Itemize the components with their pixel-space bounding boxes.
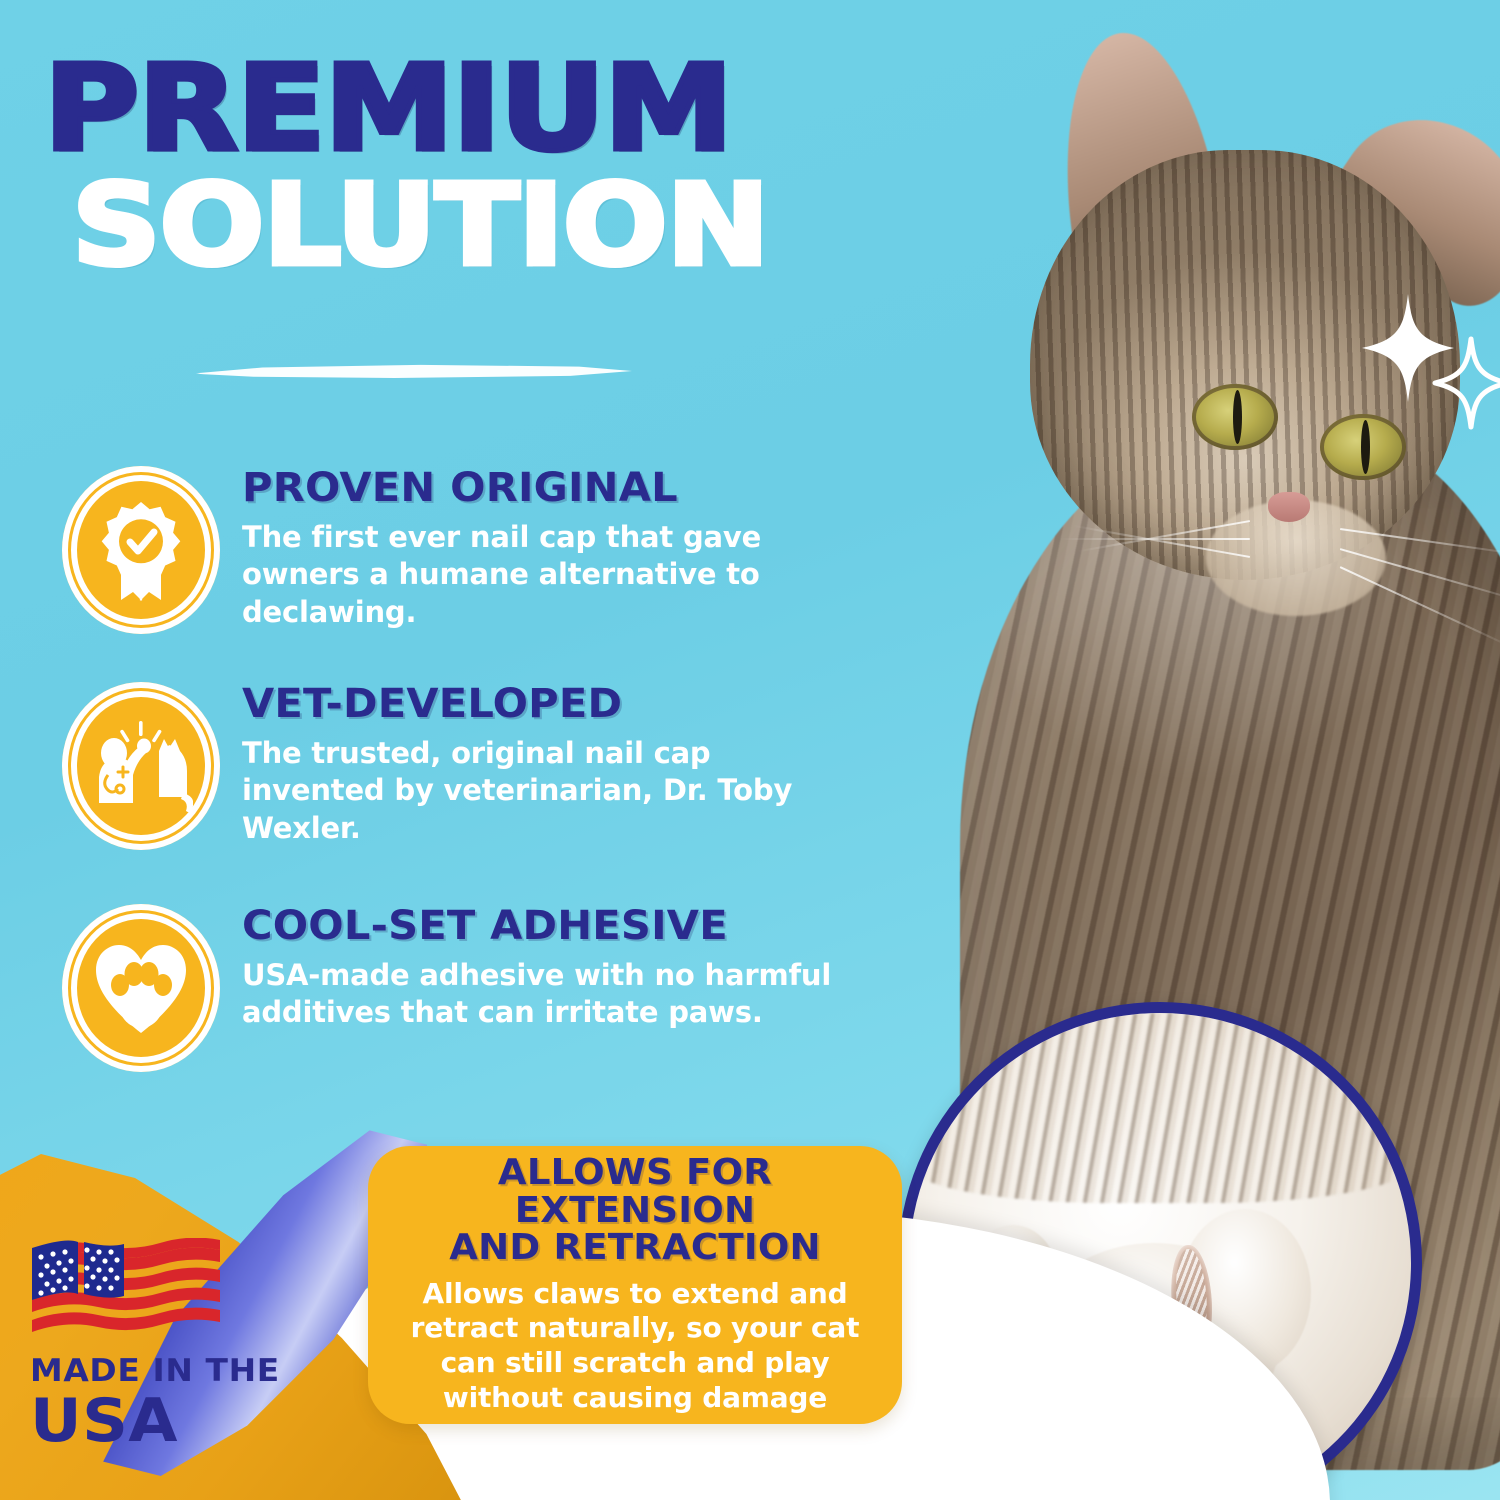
title-line-premium: PREMIUM: [44, 52, 935, 164]
award-ribbon-check-icon: [62, 466, 220, 634]
vet-and-cat-glyph: [89, 719, 193, 813]
callout-body: Allows claws to extend and retract natur…: [394, 1277, 876, 1416]
veterinarian-high-five-cat-icon: [62, 682, 220, 850]
callout-heading-line2: AND RETRACTION: [449, 1227, 821, 1268]
made-in-usa-line2: USA: [30, 1391, 337, 1452]
feature-heading: VET-DEVELOPED: [242, 684, 876, 726]
usa-flag-icon: [30, 1238, 222, 1342]
cat-eye-right: [1320, 414, 1406, 480]
heart-paw-print-icon: [62, 904, 220, 1072]
extension-retraction-callout: ALLOWS FOR EXTENSION AND RETRACTION Allo…: [368, 1146, 902, 1424]
feature-text: PROVEN ORIGINAL The first ever nail cap …: [242, 466, 852, 632]
callout-heading-line1: ALLOWS FOR EXTENSION: [498, 1152, 772, 1230]
made-in-usa-line1: MADE IN THE: [30, 1356, 337, 1387]
feature-item-cool-set-adhesive: COOL-SET ADHESIVE USA-made adhesive with…: [62, 904, 852, 1072]
feature-item-proven-original: PROVEN ORIGINAL The first ever nail cap …: [62, 466, 852, 634]
infographic-canvas: PREMIUM SOLUTION PROVEN ORIGINAL: [0, 0, 1500, 1500]
feature-text: COOL-SET ADHESIVE USA-made adhesive with…: [242, 904, 852, 1032]
award-ribbon-check-glyph: [95, 498, 187, 602]
feature-text: VET-DEVELOPED The trusted, original nail…: [242, 682, 852, 848]
feature-item-vet-developed: VET-DEVELOPED The trusted, original nail…: [62, 682, 852, 850]
cat-eye-left: [1192, 384, 1278, 450]
feature-heading: COOL-SET ADHESIVE: [242, 906, 876, 948]
feature-list: PROVEN ORIGINAL The first ever nail cap …: [62, 466, 852, 1072]
title-line-solution: SOLUTION: [72, 170, 932, 282]
feature-heading: PROVEN ORIGINAL: [242, 468, 876, 510]
callout-heading: ALLOWS FOR EXTENSION AND RETRACTION: [387, 1154, 883, 1266]
cat-nose: [1268, 492, 1310, 522]
feature-body: The trusted, original nail cap invented …: [242, 735, 852, 848]
feature-body: The first ever nail cap that gave owners…: [242, 519, 852, 632]
page-title: PREMIUM SOLUTION: [44, 52, 854, 282]
heart-paw-glyph: [92, 940, 190, 1036]
made-in-usa-badge: MADE IN THE USA: [30, 1238, 320, 1452]
sparkle-outline-icon: [1432, 336, 1500, 430]
feature-body: USA-made adhesive with no harmful additi…: [242, 957, 852, 1032]
